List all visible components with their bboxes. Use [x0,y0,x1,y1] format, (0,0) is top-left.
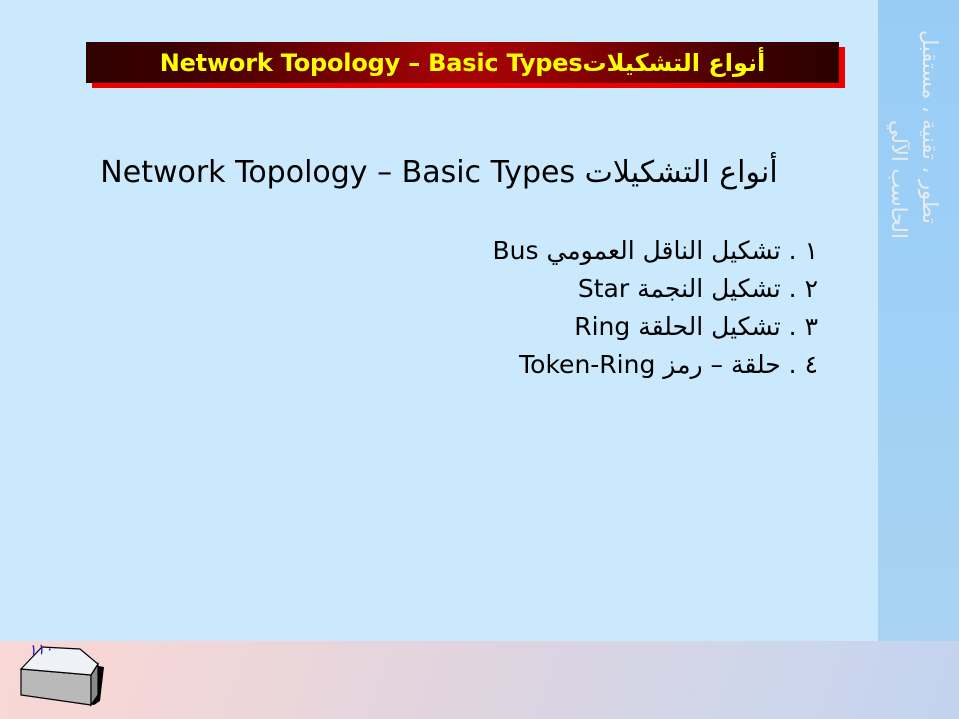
slide-heading: Network Topology – Basic Types أنواع الت… [0,155,878,190]
keycap-number-label: ١١٠ [28,639,55,659]
side-band-text-secondary: الحاسب الآلي [887,120,911,239]
list-item: ١ . تشكيل الناقل العمومي Bus [0,232,818,270]
slide-title-text: Network Topology – Basic Typesأنواع التش… [160,51,766,75]
list-item: ٣ . تشكيل الحلقة Ring [0,308,818,346]
topology-types-list: ١ . تشكيل الناقل العمومي Bus ٢ . تشكيل ا… [0,232,818,384]
side-band-text-primary: تطور ، تقنية ، مستقبل [918,30,942,224]
list-item: ٢ . تشكيل النجمة Star [0,270,818,308]
keycap-icon [8,637,138,715]
list-item: ٤ . حلقة – رمز Token-Ring [0,346,818,384]
slide-title-bar: Network Topology – Basic Typesأنواع التش… [86,42,839,83]
slide-side-band: تطور ، تقنية ، مستقبل الحاسب الآلي [878,0,959,641]
presentation-slide: تطور ، تقنية ، مستقبل الحاسب الآلي Netwo… [0,0,959,719]
